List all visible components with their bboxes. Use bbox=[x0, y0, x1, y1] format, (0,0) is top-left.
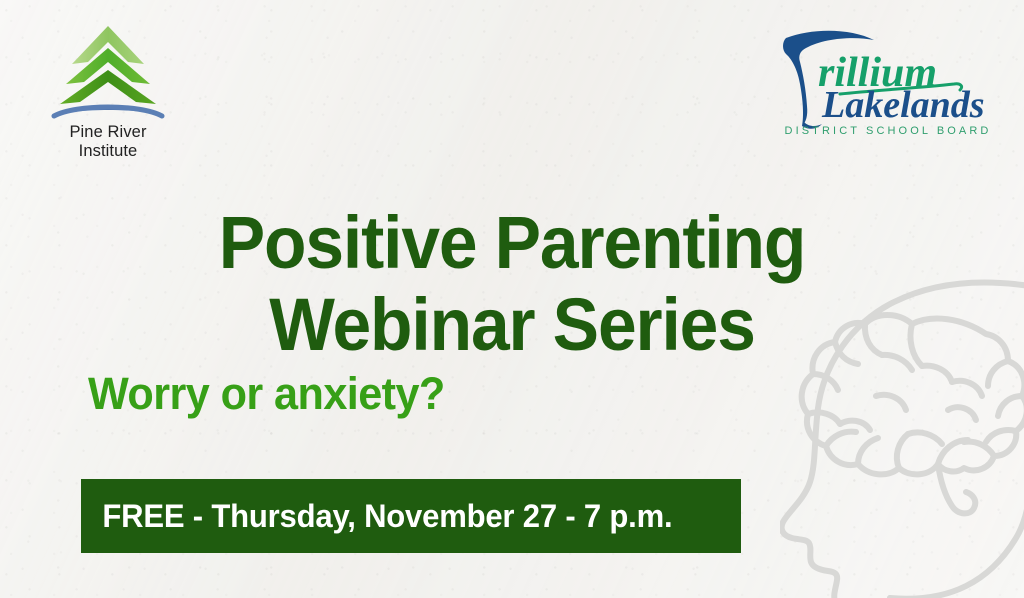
page-subtitle: Worry or anxiety? bbox=[88, 368, 445, 420]
pine-river-institute-logo: Pine River Institute bbox=[28, 22, 188, 161]
page-title-line-2: Webinar Series bbox=[31, 284, 994, 366]
page-title-line-1: Positive Parenting bbox=[31, 202, 994, 284]
tldsb-tagline: DISTRICT SCHOOL BOARD bbox=[785, 125, 992, 137]
trillium-lakelands-dsb-logo: rillium Lakelands DISTRICT SCHOOL BOARD bbox=[778, 24, 996, 138]
webinar-poster: Pine River Institute rillium Lakelands D… bbox=[0, 0, 1024, 598]
page-title: Positive Parenting Webinar Series bbox=[31, 202, 994, 366]
date-banner: FREE - Thursday, November 27 - 7 p.m. bbox=[81, 479, 741, 553]
date-banner-text: FREE - Thursday, November 27 - 7 p.m. bbox=[81, 498, 672, 534]
pine-tree-icon bbox=[28, 22, 188, 122]
lakelands-wordmark: Lakelands bbox=[821, 84, 985, 126]
pine-river-institute-name: Pine River Institute bbox=[28, 123, 188, 161]
